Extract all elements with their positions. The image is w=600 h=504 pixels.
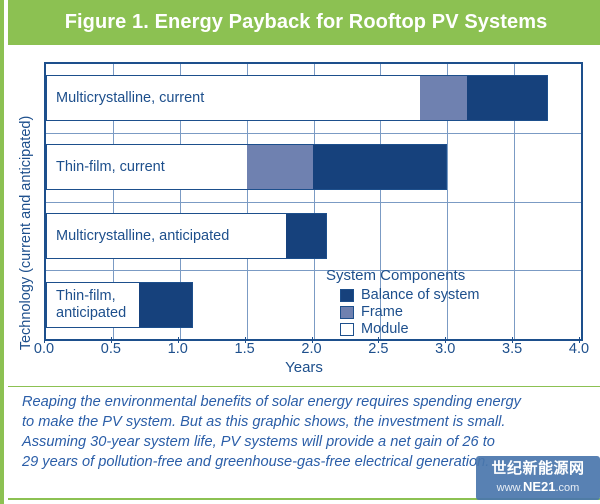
caption-line: to make the PV system. But as this graph… [22, 412, 588, 432]
bar-segment-module [47, 283, 139, 327]
watermark-site-name: 世纪新能源网 [491, 461, 584, 478]
x-tick-label: 3.0 [435, 341, 455, 357]
x-tick-label: 2.5 [368, 341, 388, 357]
bar-segment-module [47, 145, 247, 189]
watermark: 世纪新能源网 www.NE21.com [476, 456, 600, 500]
x-tick-label: 3.5 [502, 341, 522, 357]
bar-segment-module [47, 76, 420, 120]
bar-2 [46, 213, 327, 259]
caption-line: Reaping the environmental benefits of so… [22, 392, 588, 412]
x-tick-label: 2.0 [301, 341, 321, 357]
legend-item-label: Balance of system [361, 287, 479, 303]
caption-line: Assuming 30-year system life, PV systems… [22, 432, 588, 452]
row-separator [46, 202, 581, 203]
bar-segment-balance-of-system [286, 214, 326, 258]
legend-item-label: Module [361, 321, 409, 337]
figure-header: Figure 1. Energy Payback for Rooftop PV … [8, 0, 600, 45]
bar-0 [46, 75, 548, 121]
watermark-url-brand: NE21 [523, 479, 556, 494]
chart-legend: System Components Balance of system Fram… [326, 267, 556, 338]
bar-segment-frame [420, 76, 467, 120]
caption-divider [8, 386, 600, 387]
figure-container: Figure 1. Energy Payback for Rooftop PV … [0, 0, 600, 504]
legend-item-balance-of-system: Balance of system [340, 287, 556, 303]
watermark-url: www.NE21.com [497, 479, 580, 495]
bar-segment-balance-of-system [467, 76, 547, 120]
y-axis-label: Technology (current and anticipated) [18, 83, 34, 383]
page-title: Figure 1. Energy Payback for Rooftop PV … [65, 11, 548, 34]
x-axis-label: Years [4, 359, 600, 376]
bar-segment-balance-of-system [139, 283, 192, 327]
x-tick-label: 0.5 [101, 341, 121, 357]
x-tick-label: 4.0 [569, 341, 589, 357]
x-tick-label: 0.0 [34, 341, 54, 357]
watermark-url-suffix: .com [555, 482, 579, 494]
legend-swatch-icon [340, 306, 354, 319]
legend-swatch-icon [340, 323, 354, 336]
legend-item-frame: Frame [340, 304, 556, 320]
legend-item-module: Module [340, 321, 556, 337]
chart-area: Technology (current and anticipated) 035… [4, 45, 600, 385]
legend-title: System Components [326, 267, 556, 284]
x-tick-label: 1.5 [235, 341, 255, 357]
legend-item-label: Frame [361, 304, 403, 320]
bar-segment-balance-of-system [313, 145, 446, 189]
bar-segment-module [47, 214, 286, 258]
row-separator [46, 133, 581, 134]
x-tick-label: 1.0 [168, 341, 188, 357]
bar-3 [46, 282, 193, 328]
watermark-url-prefix: www. [497, 482, 523, 494]
bar-1 [46, 144, 447, 190]
legend-swatch-icon [340, 289, 354, 302]
bar-segment-frame [247, 145, 314, 189]
